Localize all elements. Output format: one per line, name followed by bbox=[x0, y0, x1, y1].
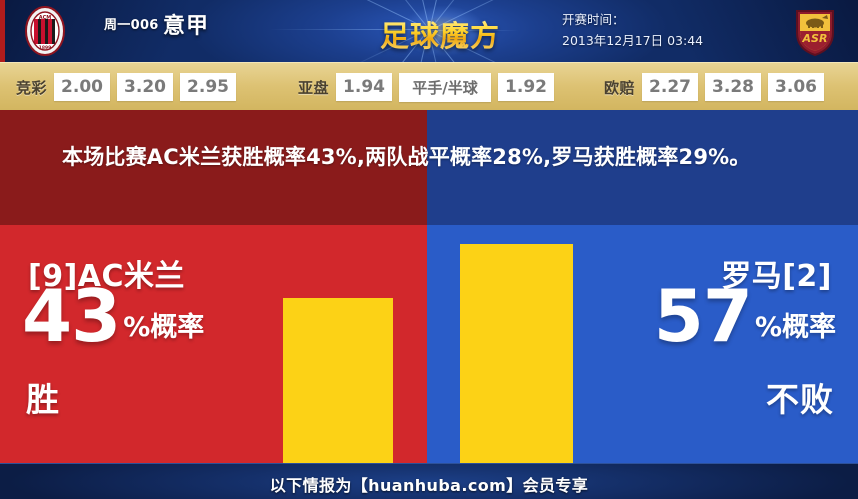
brand-logo-text: 足球魔方 bbox=[350, 13, 530, 55]
match-number: 周一006 bbox=[104, 14, 159, 33]
odds-cell-home[interactable]: 2.00 bbox=[54, 73, 110, 101]
footer-member-notice: 以下情报为【huanhuba.com】会员专享 bbox=[0, 472, 858, 496]
odds-cell-home[interactable]: 2.27 bbox=[642, 73, 698, 101]
away-percent-suffix: %概率 bbox=[752, 314, 836, 349]
odds-bar: 竞彩 2.00 3.20 2.95 亚盘 1.94 平手/半球 1.92 欧赔 … bbox=[0, 62, 858, 111]
home-probability-value: 43 %概率 bbox=[22, 283, 204, 349]
header-left-red-accent bbox=[0, 0, 5, 62]
odds-cell-draw[interactable]: 3.28 bbox=[705, 73, 761, 101]
header-bar: ACM 1899 周一006 意甲 足球魔方 开赛时间： 2013年12月17日… bbox=[0, 0, 858, 62]
svg-text:ASR: ASR bbox=[802, 32, 828, 45]
odds-cell-away[interactable]: 2.95 bbox=[180, 73, 236, 101]
brand-logo: 足球魔方 bbox=[350, 0, 530, 62]
odds-group-label: 竞彩 bbox=[16, 77, 47, 98]
ac-milan-crest-icon: ACM 1899 bbox=[18, 5, 72, 57]
odds-group-label: 亚盘 bbox=[298, 77, 329, 98]
odds-cell-away[interactable]: 1.92 bbox=[498, 73, 554, 101]
home-team-panel: [9]AC米兰 43 %概率 胜 bbox=[0, 225, 427, 463]
kickoff-time: 2013年12月17日 03:44 bbox=[562, 30, 762, 51]
home-percent-suffix: %概率 bbox=[120, 314, 204, 349]
odds-group-asian-handicap: 亚盘 1.94 平手/半球 1.92 bbox=[298, 63, 561, 111]
footer-bar: 以下情报为【huanhuba.com】会员专享 bbox=[0, 463, 858, 499]
odds-cell-away[interactable]: 3.06 bbox=[768, 73, 824, 101]
match-prediction-infographic: ACM 1899 周一006 意甲 足球魔方 开赛时间： 2013年12月17日… bbox=[0, 0, 858, 499]
svg-text:1899: 1899 bbox=[39, 45, 52, 51]
kickoff-info: 开赛时间： 2013年12月17日 03:44 bbox=[562, 9, 762, 51]
home-probability-bar bbox=[283, 298, 393, 463]
as-roma-crest-icon: ASR bbox=[788, 5, 842, 57]
odds-cell-home[interactable]: 1.94 bbox=[336, 73, 392, 101]
summary-band: 本场比赛AC米兰获胜概率43%,两队战平概率28%,罗马获胜概率29%。 bbox=[0, 110, 858, 225]
probability-panels: [9]AC米兰 43 %概率 胜 罗马[2] 57 %概率 不败 bbox=[0, 225, 858, 463]
kickoff-label: 开赛时间： bbox=[562, 9, 762, 30]
away-verdict: 不败 bbox=[766, 373, 834, 421]
odds-group-label: 欧赔 bbox=[604, 77, 635, 98]
away-probability-value: 57 %概率 bbox=[654, 283, 836, 349]
odds-cell-handicap[interactable]: 平手/半球 bbox=[399, 73, 491, 102]
away-team-panel: 罗马[2] 57 %概率 不败 bbox=[427, 225, 858, 463]
odds-cell-draw[interactable]: 3.20 bbox=[117, 73, 173, 101]
home-verdict: 胜 bbox=[26, 373, 60, 421]
odds-group-jingcai: 竞彩 2.00 3.20 2.95 bbox=[16, 63, 243, 111]
summary-text: 本场比赛AC米兰获胜概率43%,两队战平概率28%,罗马获胜概率29%。 bbox=[62, 140, 802, 174]
away-percent-number: 57 bbox=[654, 283, 752, 349]
home-percent-number: 43 bbox=[22, 283, 120, 349]
svg-text:ACM: ACM bbox=[39, 15, 52, 21]
away-probability-bar bbox=[460, 244, 573, 463]
odds-group-european: 欧赔 2.27 3.28 3.06 bbox=[604, 63, 831, 111]
league-name: 意甲 bbox=[163, 8, 209, 40]
